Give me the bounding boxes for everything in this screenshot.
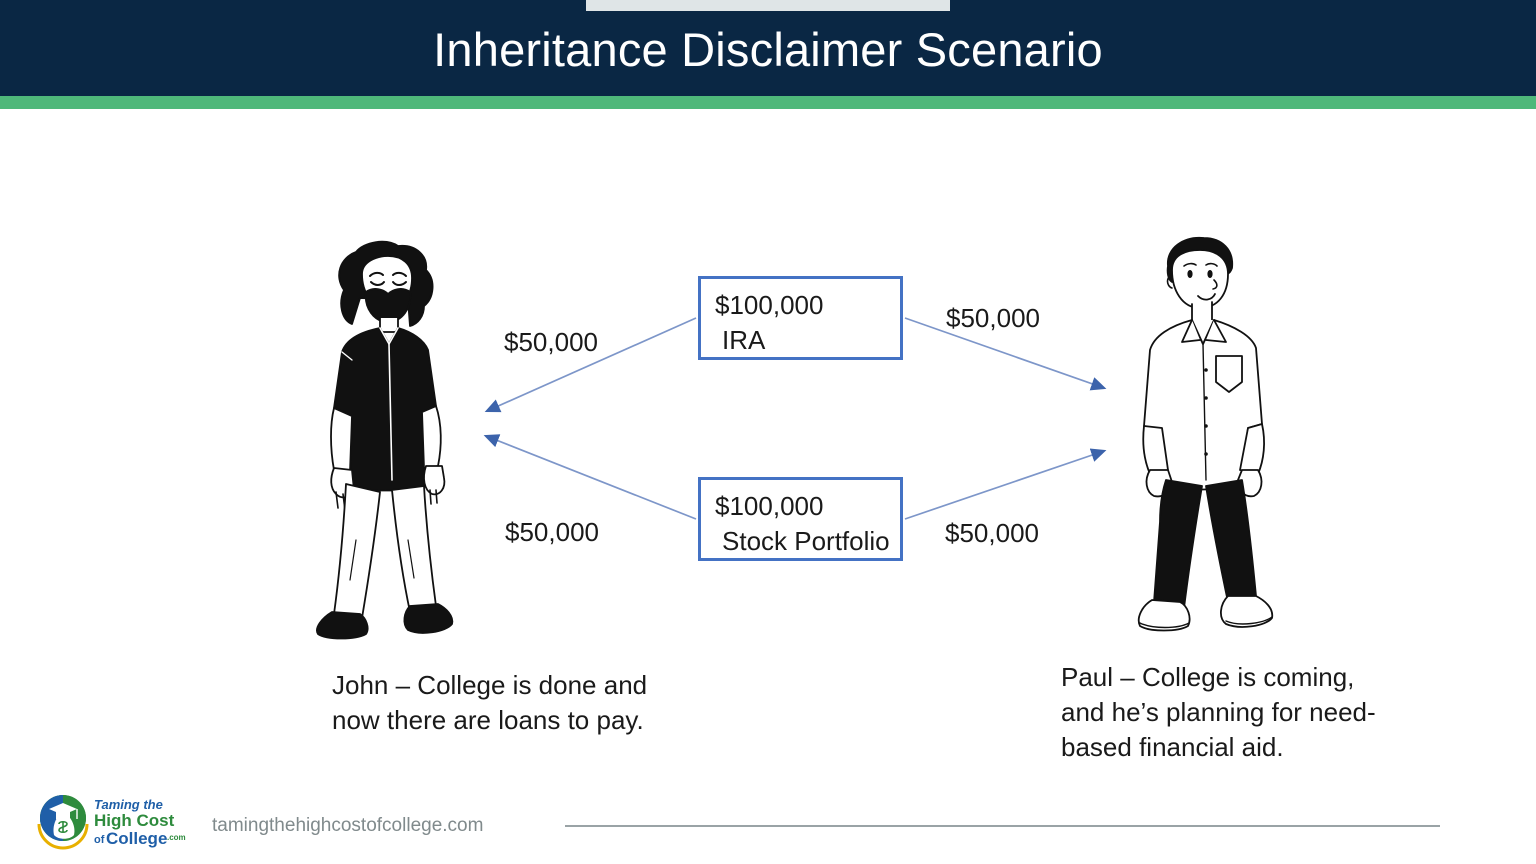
illustration-john [300, 240, 470, 650]
logo-line-2: High Cost [94, 811, 175, 830]
logo-line-1: Taming the [94, 797, 163, 812]
footer-divider-line [565, 825, 1440, 827]
arrow-stock-to-paul [905, 451, 1104, 519]
brand-logo[interactable]: Taming the High Cost of College .com [36, 790, 196, 852]
caption-john: John – College is done and now there are… [332, 668, 652, 738]
logo-line-3: College [106, 829, 167, 848]
illustration-paul [1110, 230, 1290, 650]
asset-kind: Stock Portfolio [715, 524, 900, 559]
flow-label-ira-to-paul: $50,000 [946, 303, 1040, 334]
asset-box-ira[interactable]: $100,000 IRA [698, 276, 903, 360]
logo-line-3-suffix: .com [167, 833, 186, 842]
asset-box-stock-portfolio[interactable]: $100,000 Stock Portfolio [698, 477, 903, 561]
header-tab-block [586, 0, 950, 11]
flow-label-stock-to-john: $50,000 [505, 517, 599, 548]
page-title: Inheritance Disclaimer Scenario [0, 22, 1536, 77]
header-accent-stripe [0, 96, 1536, 109]
flow-label-ira-to-john: $50,000 [504, 327, 598, 358]
slide-canvas: Inheritance Disclaimer Scenario $100,000… [0, 0, 1536, 864]
logo-line-3-prefix: of [94, 834, 105, 846]
arrow-stock-to-john [486, 436, 696, 519]
asset-amount: $100,000 [715, 288, 900, 323]
caption-paul: Paul – College is coming, and he’s plann… [1061, 660, 1401, 764]
footer-website-url[interactable]: tamingthehighcostofcollege.com [212, 815, 483, 837]
asset-kind: IRA [715, 323, 900, 358]
flow-label-stock-to-paul: $50,000 [945, 518, 1039, 549]
asset-amount: $100,000 [715, 489, 900, 524]
